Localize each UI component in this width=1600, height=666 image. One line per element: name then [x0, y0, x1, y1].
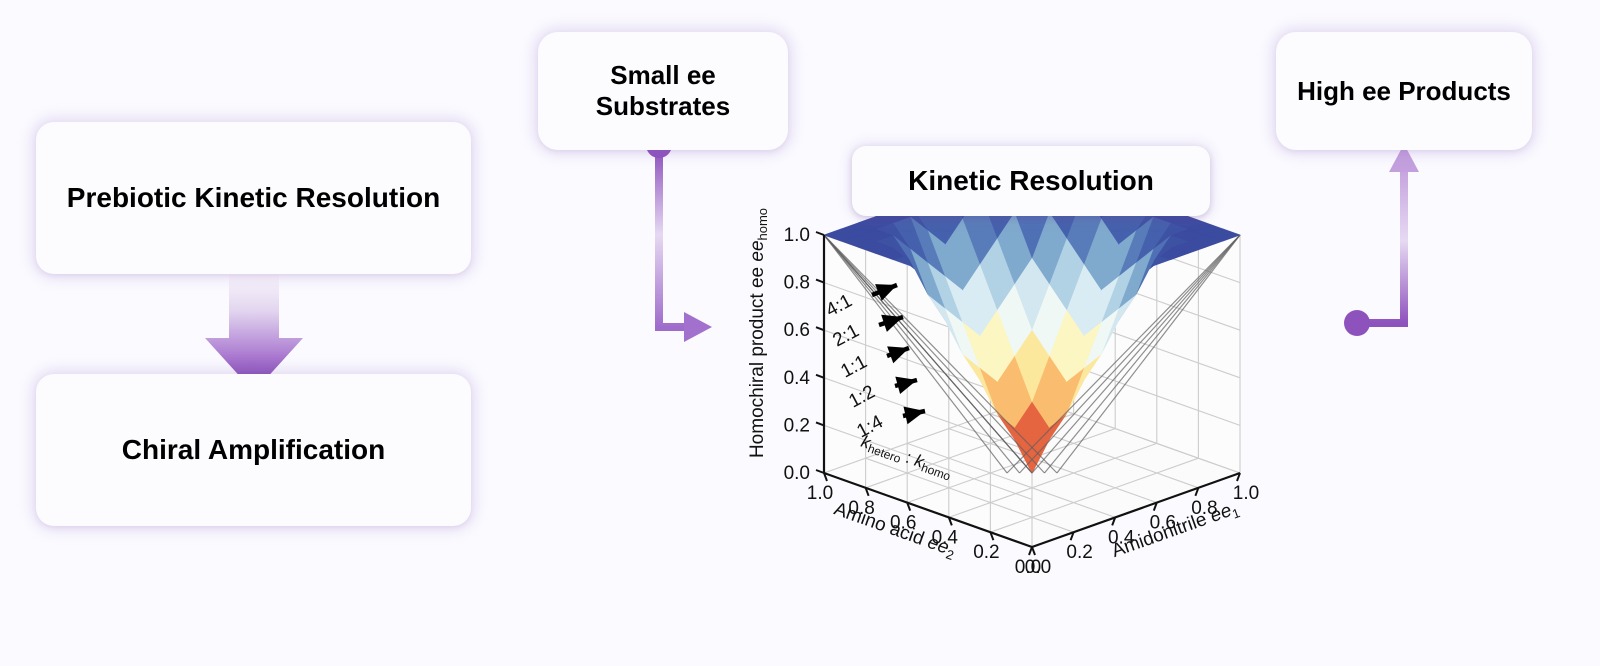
x-tick-label: 0.0 [1025, 557, 1051, 578]
z-axis-title: Homochiral product ee eehomo [747, 208, 770, 458]
connector-dot [1344, 310, 1370, 336]
z-axis-title-italic: ee [747, 240, 768, 261]
infographic-canvas: 0.00.20.40.60.81.01.00.80.60.40.20.00.00… [0, 0, 1600, 666]
small-ee-connector [646, 132, 712, 342]
z-tick-mark [816, 327, 824, 330]
z-axis-title-sub: homo [755, 208, 770, 241]
z-tick-label: 0.6 [784, 320, 810, 341]
x-tick-mark [1029, 547, 1032, 555]
plot-title-label: Kinetic Resolution [908, 164, 1154, 197]
z-tick-mark [816, 422, 824, 425]
flow-box-label: Prebiotic Kinetic Resolution [67, 181, 440, 214]
flow-box-label: Chiral Amplification [122, 433, 385, 466]
z-tick-mark [816, 280, 824, 283]
z-tick-label: 0.8 [784, 273, 810, 294]
z-tick-mark [816, 375, 824, 378]
callout-label: Small ee Substrates [552, 60, 774, 121]
z-tick-label: 0.4 [784, 368, 811, 389]
plot-title-badge[interactable]: Kinetic Resolution [852, 146, 1210, 216]
z-tick-label: 0.2 [784, 415, 810, 436]
z-tick-mark [816, 232, 824, 235]
callout-high-ee-products[interactable]: High ee Products [1276, 32, 1532, 150]
callout-label: High ee Products [1297, 76, 1511, 107]
z-tick-label: 0.0 [784, 463, 810, 484]
x-tick-label: 1.0 [1233, 483, 1259, 504]
z-tick-mark [816, 470, 824, 473]
y-tick-label: 1.0 [807, 483, 833, 504]
flow-box-chiral-amplification[interactable]: Chiral Amplification [36, 374, 471, 526]
x-tick-label: 0.2 [1066, 542, 1092, 563]
callout-small-ee-substrates[interactable]: Small ee Substrates [538, 32, 788, 150]
high-ee-connector [1344, 144, 1419, 336]
flow-box-prebiotic-kinetic-resolution[interactable]: Prebiotic Kinetic Resolution [36, 122, 471, 274]
z-tick-label: 1.0 [784, 225, 810, 246]
y-tick-label: 0.2 [973, 542, 999, 563]
